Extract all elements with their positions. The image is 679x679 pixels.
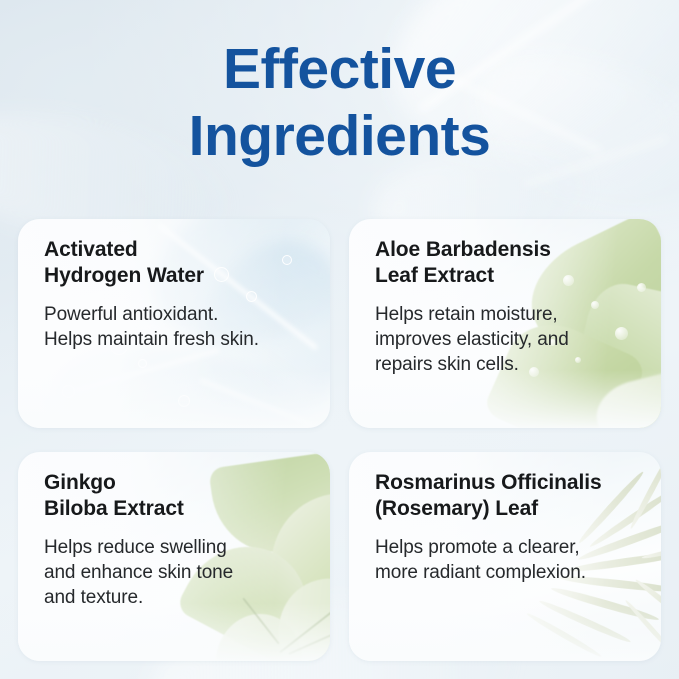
page-title-line-1: Effective xyxy=(0,42,679,98)
card-heading: Ginkgo Biloba Extract xyxy=(44,470,314,523)
card-heading: Aloe Barbadensis Leaf Extract xyxy=(375,237,645,290)
card-heading-line-2: Leaf Extract xyxy=(375,263,645,289)
page-title-line-2: Ingredients xyxy=(0,109,679,165)
infographic-canvas: Effective Ingredients xyxy=(0,0,679,679)
card-bottom-fade xyxy=(18,603,330,661)
card-body-line-1: Powerful antioxidant. xyxy=(44,302,314,327)
page-title: Effective Ingredients xyxy=(0,42,679,165)
card-body-line-1: Helps promote a clearer, xyxy=(375,535,645,560)
card-body-line-3: and texture. xyxy=(44,585,314,610)
card-heading-line-2: (Rosemary) Leaf xyxy=(375,496,645,522)
card-body: Helps reduce swelling and enhance skin t… xyxy=(44,535,314,611)
card-heading-line-2: Biloba Extract xyxy=(44,496,314,522)
card-text-block: Activated Hydrogen Water Powerful antiox… xyxy=(44,237,314,352)
ingredient-card-ginkgo-biloba-extract: Ginkgo Biloba Extract Helps reduce swell… xyxy=(18,452,330,661)
card-body-line-1: Helps retain moisture, xyxy=(375,302,645,327)
card-heading-line-1: Ginkgo xyxy=(44,470,314,496)
card-body: Powerful antioxidant. Helps maintain fre… xyxy=(44,302,314,353)
card-body-line-2: Helps maintain fresh skin. xyxy=(44,327,314,352)
ingredient-card-rosmarinus-officinalis-rosemary-leaf: Rosmarinus Officinalis (Rosemary) Leaf H… xyxy=(349,452,661,661)
card-bottom-fade xyxy=(18,370,330,428)
card-body-line-2: improves elasticity, and xyxy=(375,327,645,352)
card-heading-line-2: Hydrogen Water xyxy=(44,263,314,289)
card-body-line-1: Helps reduce swelling xyxy=(44,535,314,560)
card-bottom-fade xyxy=(349,370,661,428)
ingredient-card-grid: Activated Hydrogen Water Powerful antiox… xyxy=(18,219,661,661)
card-body: Helps promote a clearer, more radiant co… xyxy=(375,535,645,586)
card-body-line-2: and enhance skin tone xyxy=(44,560,314,585)
card-text-block: Aloe Barbadensis Leaf Extract Helps reta… xyxy=(375,237,645,378)
card-heading-line-1: Rosmarinus Officinalis xyxy=(375,470,645,496)
card-heading-line-1: Aloe Barbadensis xyxy=(375,237,645,263)
card-body-line-2: more radiant complexion. xyxy=(375,560,645,585)
card-heading: Activated Hydrogen Water xyxy=(44,237,314,290)
card-text-block: Ginkgo Biloba Extract Helps reduce swell… xyxy=(44,470,314,611)
ingredient-card-activated-hydrogen-water: Activated Hydrogen Water Powerful antiox… xyxy=(18,219,330,428)
card-bottom-fade xyxy=(349,603,661,661)
card-heading-line-1: Activated xyxy=(44,237,314,263)
card-body-line-3: repairs skin cells. xyxy=(375,352,645,377)
ingredient-card-aloe-barbadensis-leaf-extract: Aloe Barbadensis Leaf Extract Helps reta… xyxy=(349,219,661,428)
card-body: Helps retain moisture, improves elastici… xyxy=(375,302,645,378)
card-heading: Rosmarinus Officinalis (Rosemary) Leaf xyxy=(375,470,645,523)
card-text-block: Rosmarinus Officinalis (Rosemary) Leaf H… xyxy=(375,470,645,585)
